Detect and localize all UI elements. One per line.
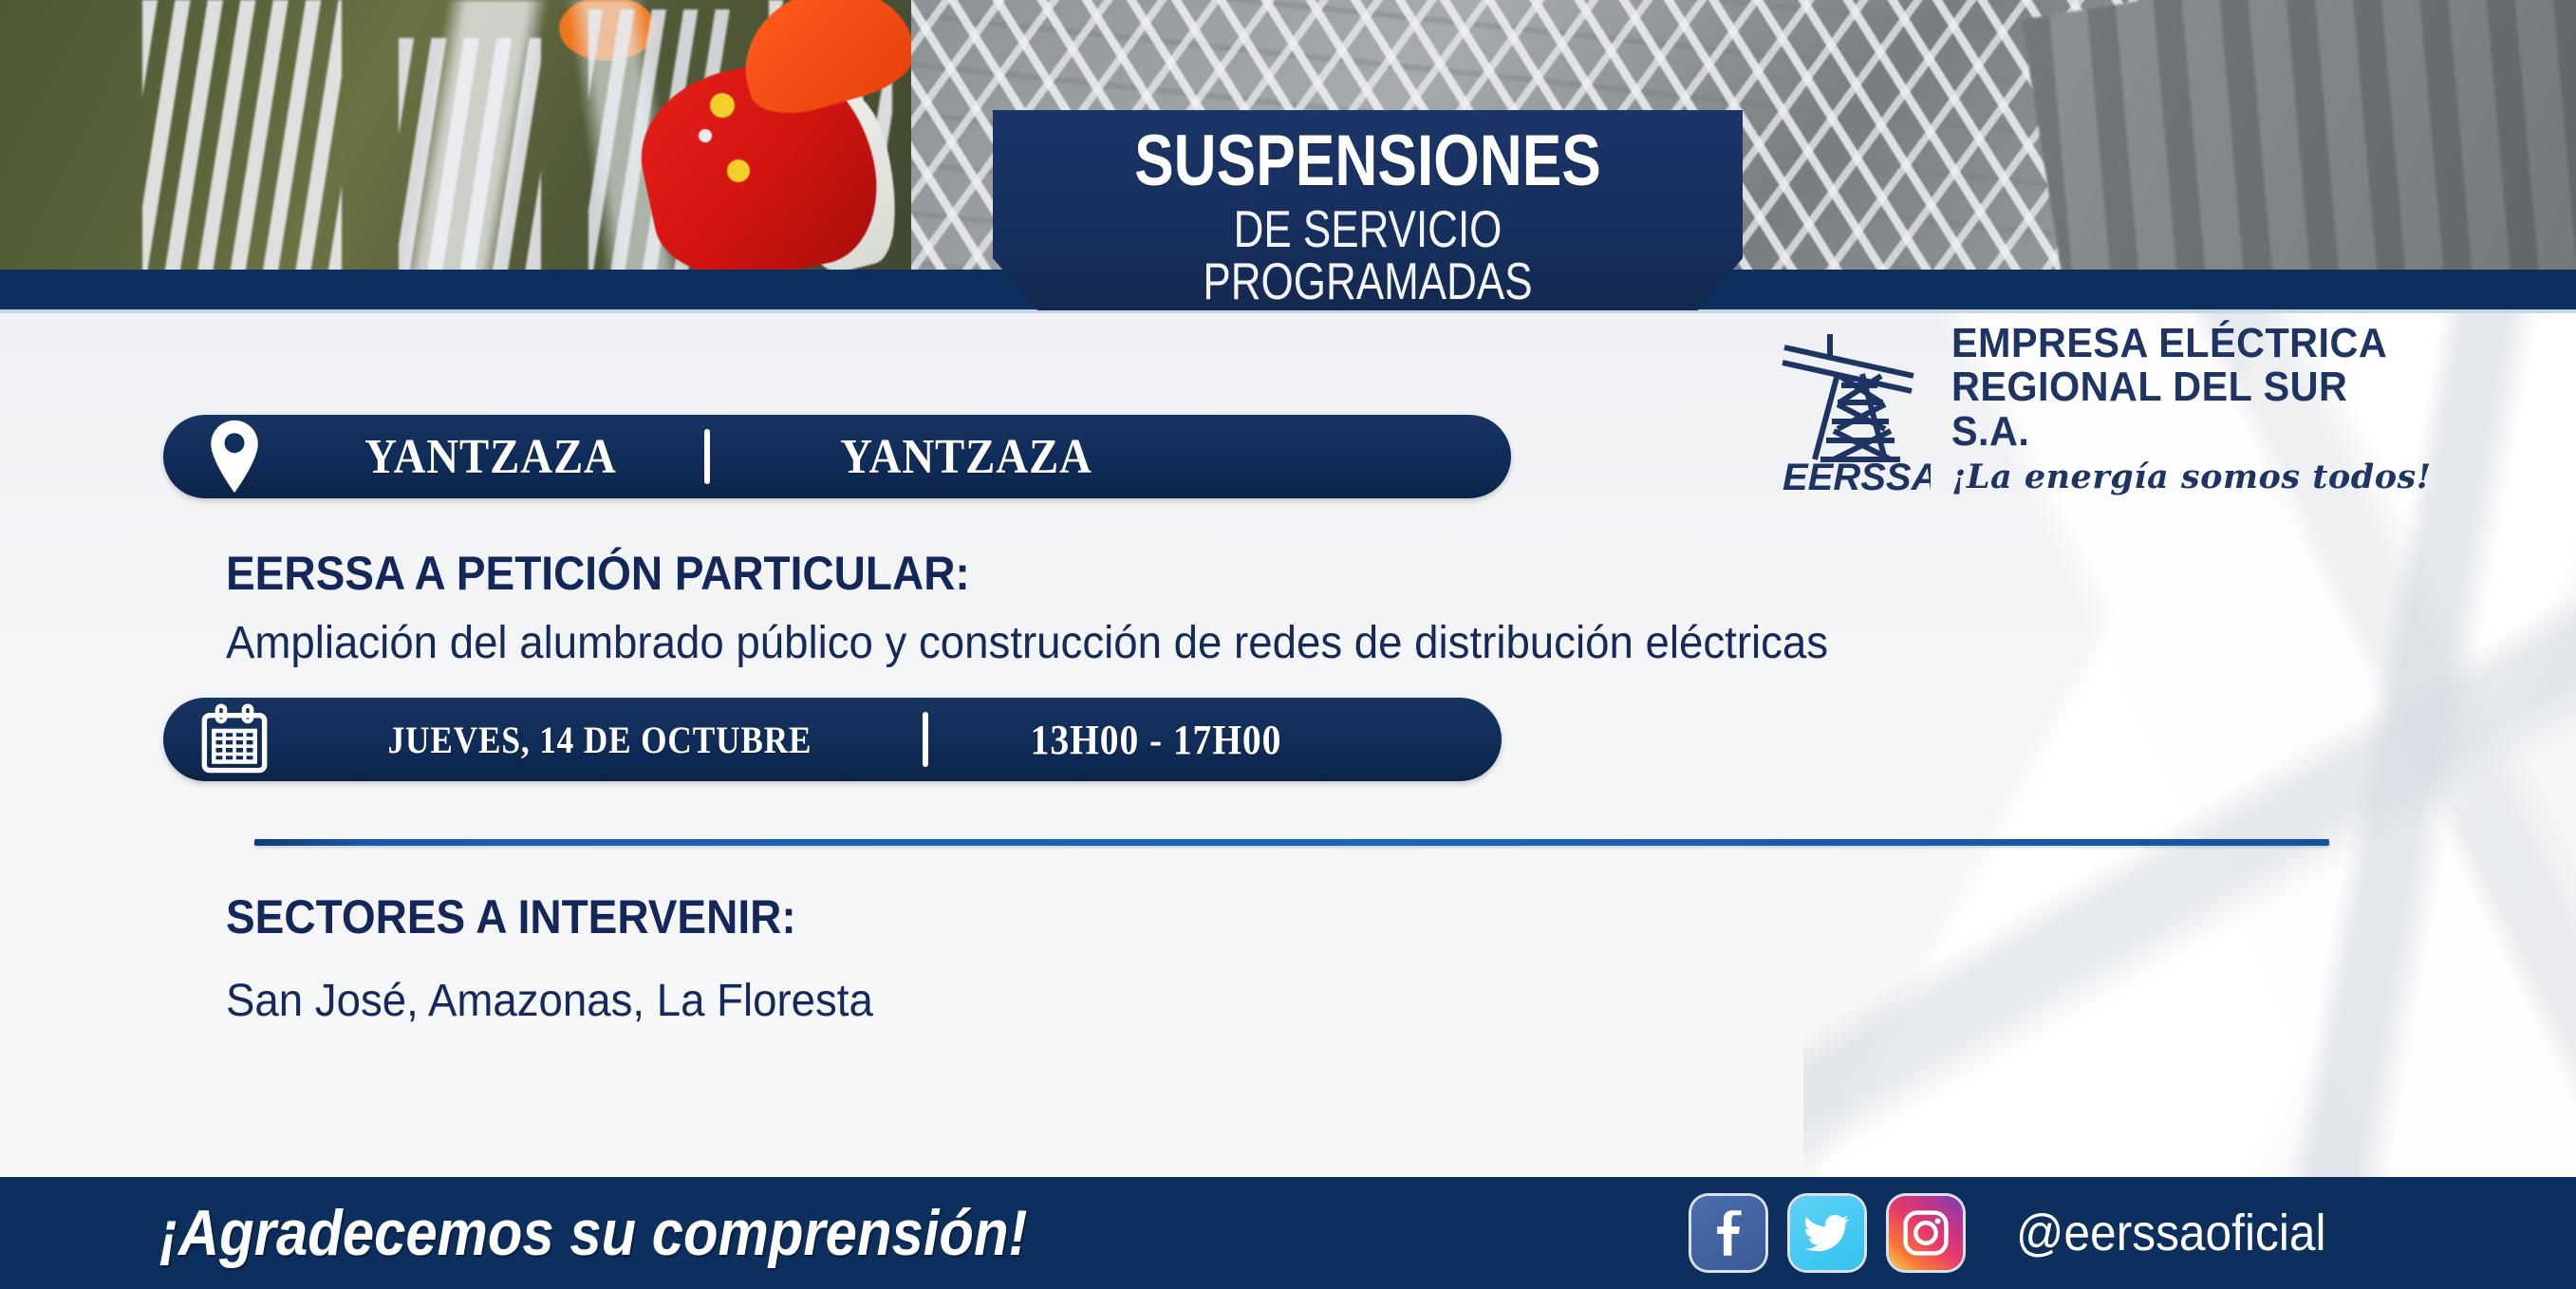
sectors-list: San José, Amazonas, La Floresta xyxy=(226,975,873,1027)
logo-line-2: REGIONAL DEL SUR S.A. xyxy=(1951,365,2406,454)
pill-separator xyxy=(704,429,710,484)
instagram-icon[interactable] xyxy=(1889,1196,1963,1270)
social-links: @eerssaoficial xyxy=(1691,1196,2353,1270)
sectors-label: SECTORES A INTERVENIR: xyxy=(226,889,796,944)
location-pill: YANTZAZA YANTZAZA xyxy=(163,415,1511,498)
page-title: SUSPENSIONES xyxy=(1060,125,1675,197)
facebook-icon[interactable] xyxy=(1691,1196,1765,1270)
vest-button xyxy=(699,129,712,142)
logo-slogan: ¡La energía somos todos! xyxy=(1951,458,2436,496)
twitter-icon[interactable] xyxy=(1790,1196,1864,1270)
logo-wordmark: EMPRESA ELÉCTRICA REGIONAL DEL SUR S.A. … xyxy=(1951,322,2436,497)
calendar-icon xyxy=(163,703,306,775)
location-parish: YANTZAZA xyxy=(761,429,1171,485)
vest-reflector-dot xyxy=(727,159,750,182)
svg-text:EERSSA: EERSSA xyxy=(1783,457,1931,493)
work-description: Ampliación del alumbrado público y const… xyxy=(226,617,1828,669)
pill-separator xyxy=(923,712,928,767)
vest-reflector-dot xyxy=(710,93,735,118)
petition-label: EERSSA A PETICIÓN PARTICULAR: xyxy=(226,546,970,601)
section-divider xyxy=(254,839,2329,846)
title-plate: SUSPENSIONES DE SERVICIO PROGRAMADAS xyxy=(993,110,1743,310)
schedule-time: 13H00 - 17H00 xyxy=(977,716,1335,764)
footer-message: ¡Agradecemos su comprensión! xyxy=(159,1196,1027,1270)
social-handle[interactable]: @eerssaoficial xyxy=(2016,1204,2326,1262)
schedule-date: JUEVES, 14 DE OCTUBRE xyxy=(341,718,859,762)
location-canton: YANTZAZA xyxy=(325,429,658,485)
page-subtitle: DE SERVICIO PROGRAMADAS xyxy=(1068,203,1668,308)
guard-rail xyxy=(2191,0,2511,273)
eerssa-logo: EERSSA EMPRESA ELÉCTRICA REGIONAL DEL SU… xyxy=(1771,319,2436,499)
background-swoosh xyxy=(1803,423,2576,1177)
footer-bar: ¡Agradecemos su comprensión! @eerssaof xyxy=(0,1177,2576,1289)
schedule-pill: JUEVES, 14 DE OCTUBRE 13H00 - 17H00 xyxy=(163,698,1502,781)
suspension-notice-poster: SUSPENSIONES DE SERVICIO PROGRAMADAS xyxy=(0,0,2576,1289)
transmission-tower-icon: EERSSA xyxy=(1771,327,1931,493)
map-pin-icon xyxy=(163,419,306,495)
logo-line-1: EMPRESA ELÉCTRICA xyxy=(1951,322,2406,366)
